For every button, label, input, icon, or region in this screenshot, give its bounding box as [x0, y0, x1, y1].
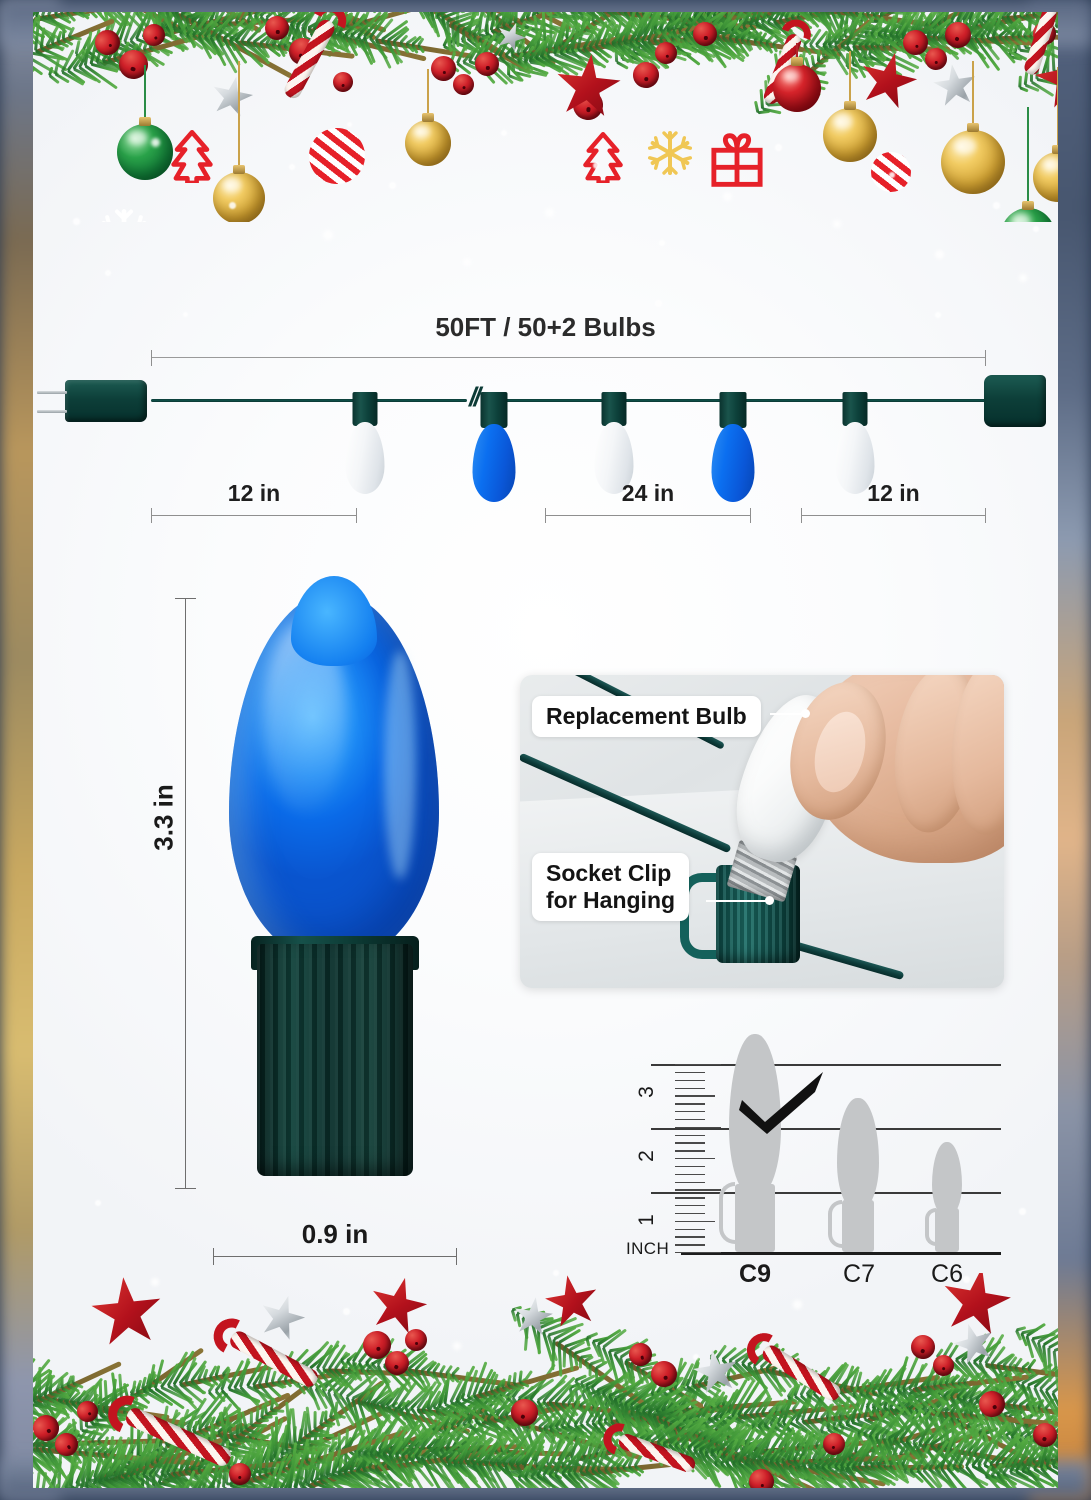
bauble-highlight — [954, 138, 976, 155]
bulb-glass — [473, 424, 516, 502]
ruler-tick — [675, 1252, 721, 1253]
red-star-ornament — [935, 1273, 1016, 1343]
bauble-ornament — [941, 130, 1005, 194]
snow-fleck — [593, 162, 600, 169]
snow-fleck — [95, 1200, 101, 1206]
holly-berry — [924, 47, 947, 70]
spacing-dim-cap-1a — [151, 508, 152, 523]
callout-socket-clip-line2: for Hanging — [546, 887, 675, 914]
spacing-dim-cap-1b — [356, 508, 357, 523]
size-bulb-c7 — [837, 1098, 879, 1252]
size-bulb-c6-clip — [925, 1208, 936, 1246]
snow-fleck — [833, 220, 841, 228]
snow-fleck — [183, 312, 188, 317]
snow-fleck — [1019, 1208, 1026, 1215]
snow-fleck — [553, 1270, 559, 1276]
height-dim-cap-bottom — [175, 1188, 196, 1189]
snow-fleck — [1019, 274, 1027, 282]
height-dim-line — [185, 598, 186, 1188]
ruler-tick — [675, 1158, 715, 1159]
bauble-cap — [139, 117, 151, 126]
bulb-socket — [602, 392, 627, 426]
spacing-dim-line-1 — [151, 515, 357, 516]
size-bulb-c6-socket — [935, 1208, 959, 1252]
holly-berry — [451, 72, 475, 96]
page-title: LED C9 String Lights — [33, 208, 1058, 285]
ruler-tick — [675, 1135, 705, 1136]
ruler-tick — [675, 1111, 705, 1112]
spacing-dim-cap-3a — [801, 508, 802, 523]
product-bulb-photo — [229, 592, 439, 1192]
snow-fleck — [935, 250, 944, 259]
snow-fleck — [347, 122, 352, 127]
spacing-label-2: 24 in — [545, 480, 751, 507]
bauble-highlight — [223, 178, 241, 192]
bauble-cap — [422, 113, 434, 122]
ruler-tick — [675, 1119, 705, 1120]
bauble-cap — [967, 123, 979, 132]
ruler-tick — [675, 1182, 705, 1183]
bulb-2 — [470, 392, 518, 502]
bauble-cap — [844, 101, 856, 110]
snow-fleck — [105, 270, 111, 276]
snow-fleck — [289, 164, 295, 170]
ruler-tick — [675, 1142, 705, 1143]
callout-dot-2 — [765, 896, 774, 905]
bulb-socket — [843, 392, 868, 426]
bulb-socket — [353, 392, 378, 426]
callout-socket-clip: Socket Clip for Hanging — [532, 853, 689, 921]
product-infographic-card: LED C9 String Lights 50FT / 50+2 Bulbs /… — [33, 12, 1058, 1488]
snow-fleck — [151, 1278, 159, 1286]
snow-fleck — [659, 240, 665, 246]
ruler-tick — [675, 1236, 705, 1237]
top-christmas-garland — [33, 12, 1058, 222]
bauble-thread — [144, 65, 146, 117]
width-dim-cap-right — [456, 1248, 457, 1265]
snow-fleck — [655, 300, 662, 307]
snow-fleck — [151, 138, 160, 147]
ruler-tick — [675, 1095, 715, 1096]
bauble-cap — [233, 165, 245, 174]
bauble-ornament — [823, 108, 877, 162]
replacement-bulb-inset-photo: Replacement Bulb Socket Clip for Hanging — [520, 675, 1004, 988]
snow-fleck — [723, 192, 732, 201]
plug-prong-bottom — [37, 410, 67, 413]
size-bulb-c6 — [932, 1142, 962, 1252]
chart-baseline — [681, 1252, 1001, 1255]
ruler-tick — [675, 1166, 705, 1167]
female-end-connector — [984, 375, 1046, 427]
bulb-socket — [720, 392, 747, 428]
ruler-tick — [675, 1221, 715, 1222]
callout-socket-clip-line1: Socket Clip — [546, 860, 675, 887]
male-plug — [65, 380, 147, 422]
holly-berry — [332, 71, 354, 93]
snow-fleck — [1033, 226, 1039, 232]
ruler-tick — [675, 1127, 721, 1128]
holly-berry — [908, 1332, 938, 1362]
overall-dim-cap-left — [151, 350, 152, 366]
snow-fleck — [453, 1342, 461, 1350]
ruler-tick — [675, 1213, 705, 1214]
snow-fleck — [993, 202, 1000, 209]
wire-segment-1 — [151, 399, 467, 402]
bauble-thread — [238, 61, 240, 165]
height-dim-cap-top — [175, 598, 196, 599]
snow-fleck — [935, 312, 941, 318]
ruler-tick — [675, 1205, 705, 1206]
callout-replacement-bulb: Replacement Bulb — [532, 696, 761, 737]
ruler-tick — [675, 1072, 705, 1073]
ruler-tick — [675, 1150, 705, 1151]
snow-fleck — [463, 258, 471, 266]
snow-fleck — [693, 1354, 699, 1360]
bauble-thread — [1027, 107, 1029, 201]
snow-fleck — [323, 230, 333, 240]
size-bulb-c7-clip — [828, 1200, 842, 1248]
overall-dim-line — [151, 357, 986, 358]
bauble-highlight — [1043, 158, 1058, 171]
flat-tree-ornament-icon — [169, 130, 215, 183]
snow-fleck — [889, 172, 895, 178]
bauble-ornament — [1033, 152, 1058, 202]
ruler-tick — [675, 1189, 721, 1190]
bauble-thread — [1057, 67, 1058, 145]
snow-fleck — [389, 182, 396, 189]
string-lights-diagram: 50FT / 50+2 Bulbs // — [33, 312, 1058, 527]
snow-fleck — [229, 202, 236, 209]
bottom-christmas-garland — [33, 1273, 1058, 1488]
ruler-tick — [675, 1174, 705, 1175]
bauble-highlight — [414, 126, 430, 138]
bauble-thread — [427, 69, 429, 113]
plug-prong-top — [37, 391, 67, 394]
overall-dim-cap-right — [985, 350, 986, 366]
ruler-tick — [675, 1064, 721, 1065]
width-dim-cap-left — [213, 1248, 214, 1265]
c9-selected-checkmark — [739, 1070, 827, 1134]
ruler-tick — [675, 1229, 705, 1230]
spacing-label-1: 12 in — [151, 480, 357, 507]
snow-fleck — [793, 1300, 802, 1309]
callout-leader-2 — [706, 900, 768, 902]
bulb-width-label: 0.9 in — [213, 1219, 457, 1250]
bulb-socket-large — [257, 944, 413, 1176]
callout-dot-1 — [801, 709, 810, 718]
ruler-tick — [675, 1244, 705, 1245]
silver-star-ornament — [207, 72, 257, 122]
size-bulb-c7-socket — [842, 1200, 874, 1252]
spacing-dim-cap-2a — [545, 508, 546, 523]
scale-number-2: 2 — [635, 1150, 659, 1162]
snow-fleck — [501, 130, 507, 136]
bauble-ornament — [773, 64, 821, 112]
bauble-cap — [791, 57, 803, 66]
bulb-size-comparison-chart: 3 2 1 INCH C9 C7 C6 — [629, 1036, 1001, 1272]
spacing-dim-line-3 — [801, 515, 986, 516]
size-bulb-c6-glass — [932, 1142, 962, 1216]
snow-fleck — [963, 1276, 970, 1283]
holly-berry — [431, 56, 457, 82]
spacing-dim-line-2 — [545, 515, 751, 516]
bauble-thread — [972, 61, 974, 123]
bauble-ornament — [117, 124, 173, 180]
callout-leader-1 — [770, 713, 804, 715]
snow-fleck — [343, 1308, 350, 1315]
snow-fleck — [545, 208, 554, 217]
bulb-socket — [481, 392, 508, 428]
size-bulb-c7-glass — [837, 1098, 879, 1210]
spacing-dim-cap-2b — [750, 508, 751, 523]
bauble-cap — [1052, 145, 1058, 154]
bauble-highlight — [128, 131, 147, 146]
flat-gift-box-icon — [709, 132, 765, 193]
size-bulb-c9-clip — [719, 1182, 735, 1244]
snow-fleck — [775, 144, 782, 151]
bulb-tip — [291, 576, 377, 666]
flat-tree-ornament-icon — [581, 132, 625, 183]
bauble-highlight — [834, 114, 852, 128]
bulb-height-label: 3.3 in — [149, 784, 180, 850]
scale-number-3: 3 — [635, 1086, 659, 1098]
bauble-thread — [796, 43, 798, 57]
ruler-tick — [675, 1080, 705, 1081]
width-dim-line — [213, 1256, 457, 1257]
bauble-highlight — [783, 70, 799, 82]
snow-fleck — [73, 218, 80, 225]
ruler-tick — [675, 1103, 705, 1104]
size-bulb-c9 — [729, 1034, 781, 1252]
scale-unit-label: INCH — [626, 1239, 669, 1259]
ruler-tick — [675, 1197, 705, 1198]
ruler-tick — [675, 1088, 705, 1089]
spacing-dim-cap-3b — [985, 508, 986, 523]
size-bulb-c9-socket — [735, 1184, 775, 1252]
snowflake-icon — [647, 130, 693, 181]
spacing-label-3: 12 in — [801, 480, 986, 507]
bauble-thread — [849, 51, 851, 101]
scale-number-1: 1 — [635, 1214, 659, 1226]
bauble-ornament — [405, 120, 451, 166]
candy-ball-ornament — [309, 128, 365, 184]
silver-star-ornament — [254, 1290, 311, 1347]
